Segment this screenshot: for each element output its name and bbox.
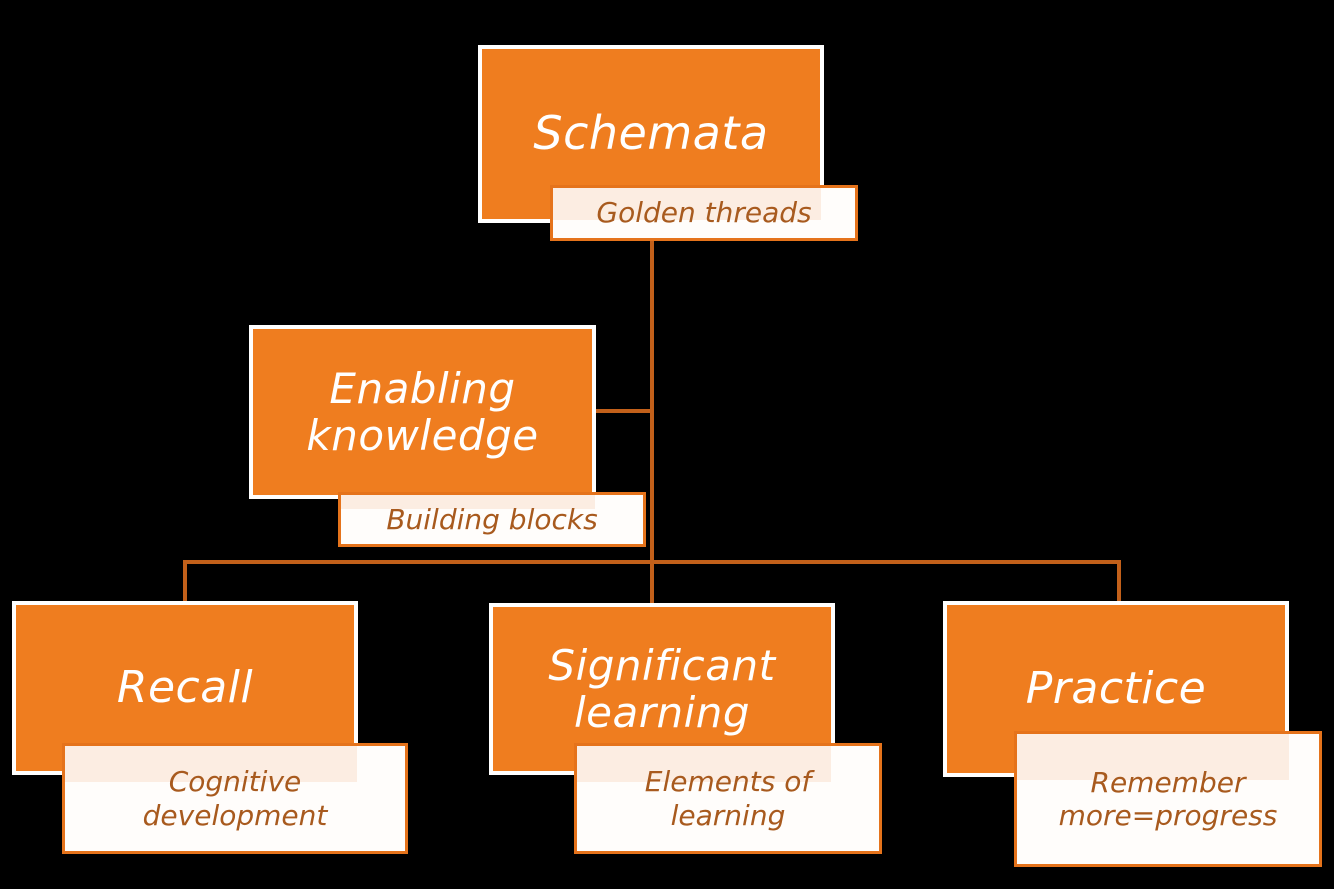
node-recall-title: Recall — [109, 663, 261, 712]
tag-building-blocks[interactable]: Building blocks — [338, 492, 646, 547]
tag-cognitive-development[interactable]: Cognitive development — [62, 743, 408, 854]
tag-building-blocks-label: Building blocks — [376, 503, 607, 536]
tag-cognitive-development-label: Cognitive development — [133, 765, 338, 831]
node-schemata-title: Schemata — [525, 108, 776, 160]
diagram-canvas: Schemata Golden threads Enabling knowled… — [0, 0, 1334, 889]
tag-elements-of-learning[interactable]: Elements of learning — [574, 743, 882, 854]
connector-drop-practice — [1117, 560, 1121, 606]
tag-golden-threads-label: Golden threads — [586, 196, 821, 229]
tag-remember-more-progress[interactable]: Remember more=progress — [1014, 731, 1322, 867]
tag-elements-of-learning-label: Elements of learning — [635, 765, 821, 831]
node-enabling-knowledge[interactable]: Enabling knowledge — [249, 325, 596, 499]
tag-remember-more-progress-label: Remember more=progress — [1049, 766, 1288, 832]
connector-drop-significant-learning — [650, 560, 654, 606]
node-significant-learning-title: Significant learning — [540, 642, 783, 736]
connector-trunk-vertical — [650, 233, 654, 564]
node-practice-title: Practice — [1018, 664, 1215, 713]
connector-enabling-stub — [592, 409, 654, 413]
connector-drop-recall — [183, 560, 187, 606]
tag-golden-threads[interactable]: Golden threads — [550, 185, 858, 241]
node-enabling-knowledge-title: Enabling knowledge — [298, 365, 546, 459]
